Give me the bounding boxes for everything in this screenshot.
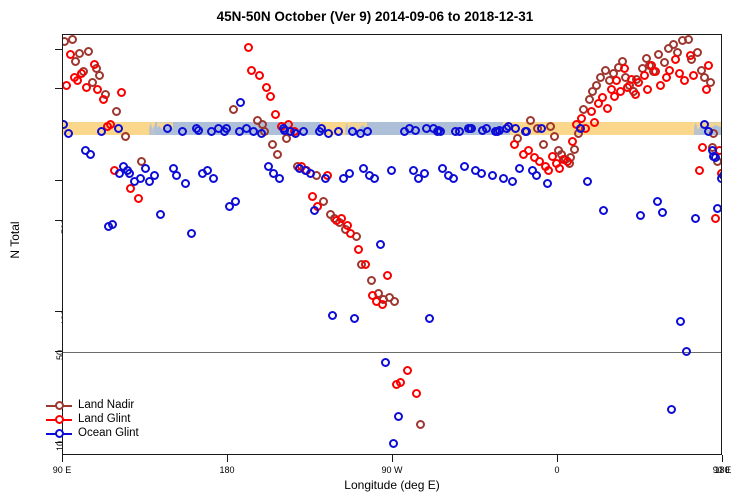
data-point [590,118,599,127]
data-point [682,347,691,356]
y-axis-label: N Total [8,0,28,490]
data-point [62,81,71,90]
data-point [361,260,370,269]
data-point [178,127,187,136]
data-point [108,220,117,229]
data-point [478,126,487,135]
data-point [508,177,517,186]
legend-item: Ocean Glint [46,426,139,440]
data-point [656,81,665,90]
data-point [603,104,612,113]
data-point [86,150,95,159]
chart-legend: Land NadirLand GlintOcean Glint [46,398,139,440]
x-tick-label: 90 E [53,465,72,475]
data-point [222,124,231,133]
data-point [702,85,711,94]
data-point [136,174,145,183]
data-point [599,206,608,215]
data-point [328,311,337,320]
data-point [539,140,548,149]
legend-label: Land Glint [72,413,130,425]
data-point [97,127,106,136]
data-point [310,206,319,215]
data-point [495,126,504,135]
data-point [510,140,519,149]
data-point [236,98,245,107]
data-point [363,127,372,136]
data-point [229,105,238,114]
x-tick-mark [557,455,558,462]
data-point [665,66,674,75]
data-point [620,64,629,73]
data-point [612,76,621,85]
data-point [425,314,434,323]
data-point [235,127,244,136]
data-point [156,210,165,219]
data-point [66,50,75,59]
data-point [488,171,497,180]
y-tick-mark [55,88,62,89]
data-point [280,126,289,135]
data-point [112,107,121,116]
legend-marker [46,413,72,425]
data-point [583,177,592,186]
data-point [515,164,524,173]
y-tick-mark [55,49,62,50]
data-point [84,47,93,56]
data-point [321,174,330,183]
data-point [262,83,271,92]
data-point [275,174,284,183]
data-point [671,55,680,64]
reference-line [63,352,721,353]
data-point [585,95,594,104]
x-tick-mark [392,455,393,462]
data-point [77,69,86,78]
data-point [532,171,541,180]
data-point [460,162,469,171]
data-point [667,405,676,414]
data-point [592,81,601,90]
data-point [117,88,126,97]
legend-marker [46,399,72,411]
data-point [354,245,363,254]
data-point [381,358,390,367]
legend-item: Land Glint [46,412,139,426]
data-point [95,71,104,80]
data-point [403,366,412,375]
data-point [75,49,84,58]
data-point [623,83,632,92]
data-point [543,179,552,188]
data-point [411,126,420,135]
data-point [68,35,77,44]
data-point [449,174,458,183]
data-point [90,60,99,69]
data-point [324,129,333,138]
data-point [268,140,277,149]
data-point [436,127,445,136]
data-point [691,214,700,223]
data-point [209,174,218,183]
data-point [207,127,216,136]
data-point [244,43,253,52]
data-point [299,127,308,136]
data-point [526,116,535,125]
legend-dot [55,429,64,438]
data-point [231,197,240,206]
data-point [653,197,662,206]
data-point [390,297,399,306]
data-point [172,171,181,180]
data-point [266,92,275,101]
data-point [64,129,73,138]
data-point [367,276,376,285]
data-point [451,127,460,136]
x-tick-label: 180 [219,465,234,475]
data-point [194,126,203,135]
x-tick-label: 180 [714,465,729,475]
data-point [698,143,707,152]
data-point [306,169,315,178]
chart-title: 45N-50N October (Ver 9) 2014-09-06 to 20… [0,9,750,24]
data-point [383,271,392,280]
data-point [396,378,405,387]
x-axis-label: Longitude (deg E) [62,478,722,492]
data-point [416,420,425,429]
data-point [711,214,720,223]
data-point [684,35,693,44]
data-point [387,166,396,175]
data-point [412,389,421,398]
legend-label: Ocean Glint [72,427,139,439]
x-tick-label: 90 W [381,465,402,475]
data-point [587,107,596,116]
data-point [598,93,607,102]
data-point [704,127,713,136]
data-point [713,204,722,213]
data-point [544,166,553,175]
chart-root: 45N-50N October (Ver 9) 2014-09-06 to 20… [0,0,750,500]
data-point [555,164,564,173]
data-point [308,192,317,201]
legend-marker [46,427,72,439]
data-point [181,179,190,188]
data-point [636,211,645,220]
data-point [422,124,431,133]
data-point [334,127,343,136]
x-tick-label: 0 [554,465,559,475]
data-point [550,132,559,141]
data-point [62,120,68,129]
data-point [150,171,159,180]
data-point [82,83,91,92]
data-point [676,317,685,326]
legend-dot [55,415,64,424]
data-point [499,174,508,183]
data-point [345,169,354,178]
legend-label: Land Nadir [72,399,134,411]
data-point [634,78,643,87]
data-point [187,229,196,238]
x-tick-mark [62,455,63,462]
data-point [704,61,713,70]
data-point [350,314,359,323]
data-point [576,124,585,133]
data-point [640,71,649,80]
data-point [376,240,385,249]
data-point [570,145,579,154]
data-point [394,412,403,421]
data-point [99,95,108,104]
data-point [695,166,704,175]
legend-dot [55,401,64,410]
data-point [631,90,640,99]
data-point [134,194,143,203]
data-point [257,129,266,138]
data-point [370,174,379,183]
data-point [477,169,486,178]
data-point [680,76,689,85]
data-point [271,110,280,119]
data-point [114,124,123,133]
data-point [141,164,150,173]
data-point [420,169,429,178]
x-tick-mark [227,455,228,462]
y-tick-mark [55,180,62,181]
data-point [643,85,652,94]
legend-item: Land Nadir [46,398,139,412]
data-point [686,51,695,60]
data-point [522,127,531,136]
data-point [389,439,398,448]
plot-area [62,34,722,455]
data-point [378,300,387,309]
data-point [273,150,282,159]
x-tick-mark [722,455,723,462]
data-point [651,67,660,76]
data-point [255,71,264,80]
data-point [121,132,130,141]
data-point [658,208,667,217]
data-point [689,71,698,80]
